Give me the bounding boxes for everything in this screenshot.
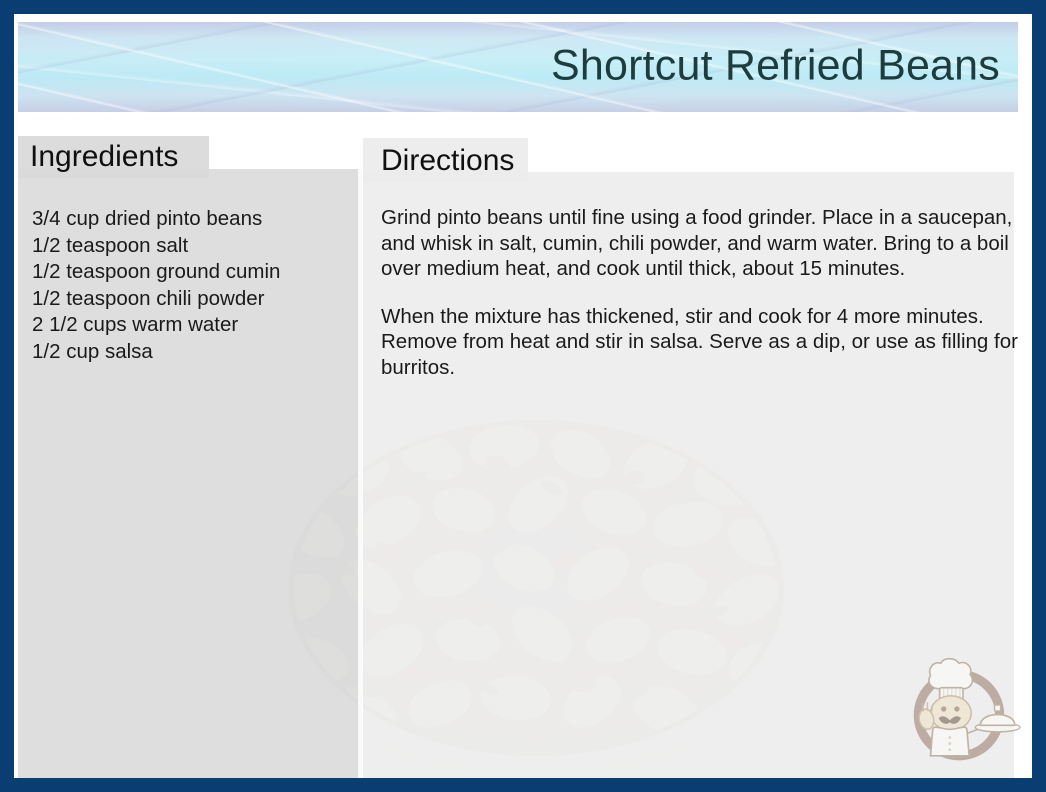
page-title: Shortcut Refried Beans	[551, 42, 1000, 91]
ingredients-heading: Ingredients	[30, 140, 178, 174]
directions-paragraph: Grind pinto beans until fine using a foo…	[381, 205, 1019, 282]
header-banner: Shortcut Refried Beans	[18, 22, 1018, 112]
slide-frame: Shortcut Refried Beans	[0, 0, 1046, 792]
list-item: 1/2 cup salsa	[32, 339, 352, 366]
panel-divider	[358, 169, 363, 778]
directions-paragraph: When the mixture has thickened, stir and…	[381, 304, 1019, 381]
list-item: 3/4 cup dried pinto beans	[32, 206, 352, 233]
list-item: 1/2 teaspoon salt	[32, 233, 352, 260]
directions-heading: Directions	[381, 144, 514, 178]
list-item: 1/2 teaspoon chili powder	[32, 286, 352, 313]
list-item: 2 1/2 cups warm water	[32, 312, 352, 339]
ingredients-list: 3/4 cup dried pinto beans 1/2 teaspoon s…	[32, 206, 352, 366]
directions-body: Grind pinto beans until fine using a foo…	[381, 205, 1019, 380]
recipe-card: Shortcut Refried Beans	[14, 14, 1032, 778]
list-item: 1/2 teaspoon ground cumin	[32, 259, 352, 286]
